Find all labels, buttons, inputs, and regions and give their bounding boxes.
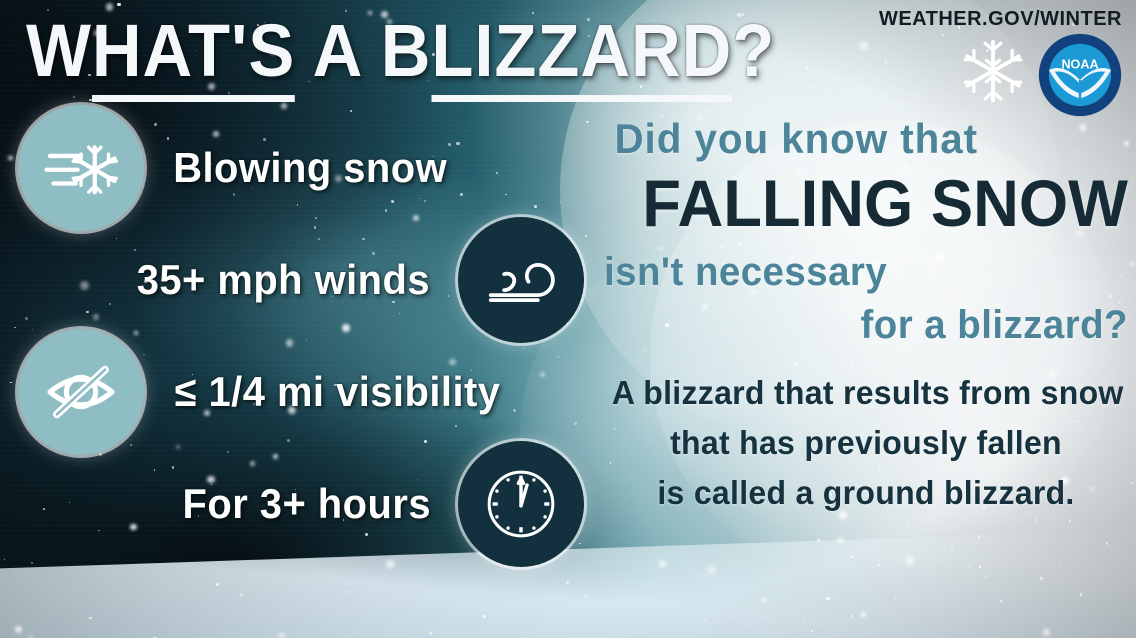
criteria-badge — [458, 217, 584, 343]
blowing-snow-icon — [38, 125, 124, 211]
page-title-segment: W — [26, 9, 92, 92]
criteria-label: For 3+ hours — [183, 480, 431, 528]
infographic-canvas: WHAT'S A BLIZZARD? WEATHER.GOV/WINTER NO — [0, 0, 1136, 638]
criteria-row-winds: 35+ mph winds — [0, 224, 600, 336]
page-title-segment: ? — [732, 9, 775, 92]
panel-body-line: is called a ground blizzard. — [612, 468, 1120, 518]
page-title-segment: A B — [295, 9, 431, 92]
panel-body-line: that has previously fallen — [612, 418, 1120, 468]
no-visibility-eye-icon — [38, 349, 124, 435]
panel-subline-1: isn't necessary — [604, 250, 1107, 295]
noaa-wordmark: NOAA — [1061, 57, 1098, 71]
panel-kicker: Did you know that — [614, 118, 1117, 160]
criteria-badge — [18, 329, 144, 455]
did-you-know-panel: Did you know that FALLING SNOW isn't nec… — [604, 118, 1128, 518]
page-title: WHAT'S A BLIZZARD? — [26, 14, 775, 88]
weather-gov-url[interactable]: WEATHER.GOV/WINTER — [879, 8, 1122, 31]
criteria-badge — [458, 441, 584, 567]
page-title-underlined-segment: HAT'S — [92, 9, 295, 102]
criteria-row-blowing-snow: Blowing snow — [0, 112, 600, 224]
panel-body: A blizzard that results from snow that h… — [604, 368, 1128, 518]
snowflake-icon — [960, 38, 1026, 104]
wind-icon — [479, 238, 563, 322]
criteria-label: Blowing snow — [173, 144, 447, 192]
panel-body-line: A blizzard that results from snow — [612, 368, 1120, 418]
blizzard-criteria-list: Blowing snow 35+ mph winds — [0, 112, 600, 560]
criteria-badge — [18, 105, 144, 231]
criteria-row-duration: For 3+ hours — [0, 448, 600, 560]
noaa-logo: NOAA — [1038, 33, 1122, 117]
clock-icon — [478, 461, 564, 547]
page-title-underlined-segment: LIZZARD — [431, 9, 732, 102]
criteria-label: 35+ mph winds — [137, 256, 430, 304]
panel-subline-2: for a blizzard? — [625, 303, 1128, 348]
criteria-row-visibility: ≤ 1/4 mi visibility — [0, 336, 600, 448]
panel-headline: FALLING SNOW — [625, 170, 1128, 236]
criteria-label: ≤ 1/4 mi visibility — [175, 368, 501, 416]
